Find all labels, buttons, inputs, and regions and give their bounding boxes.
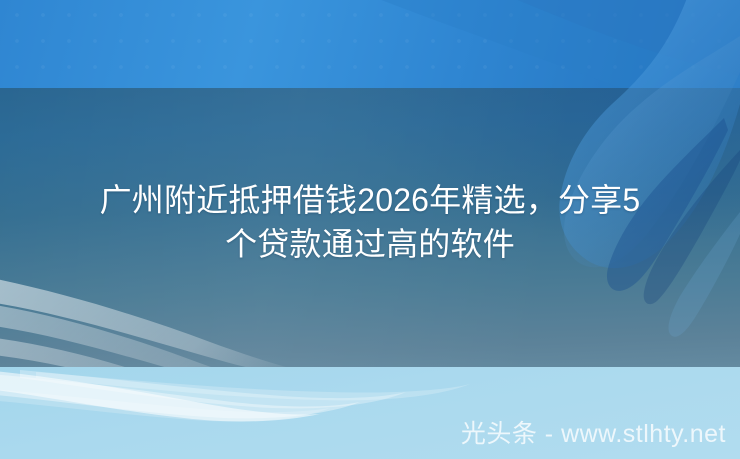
background-band-top (0, 0, 740, 88)
headline-text: 广州附近抵押借钱2026年精选，分享5 个贷款通过高的软件 (20, 178, 720, 266)
background-dot-texture (0, 0, 740, 88)
banner-image: 广州附近抵押借钱2026年精选，分享5 个贷款通过高的软件 光头条 - www.… (0, 0, 740, 459)
site-watermark: 光头条 - www.stlhty.net (461, 417, 726, 451)
headline-container: 广州附近抵押借钱2026年精选，分享5 个贷款通过高的软件 (0, 178, 740, 266)
